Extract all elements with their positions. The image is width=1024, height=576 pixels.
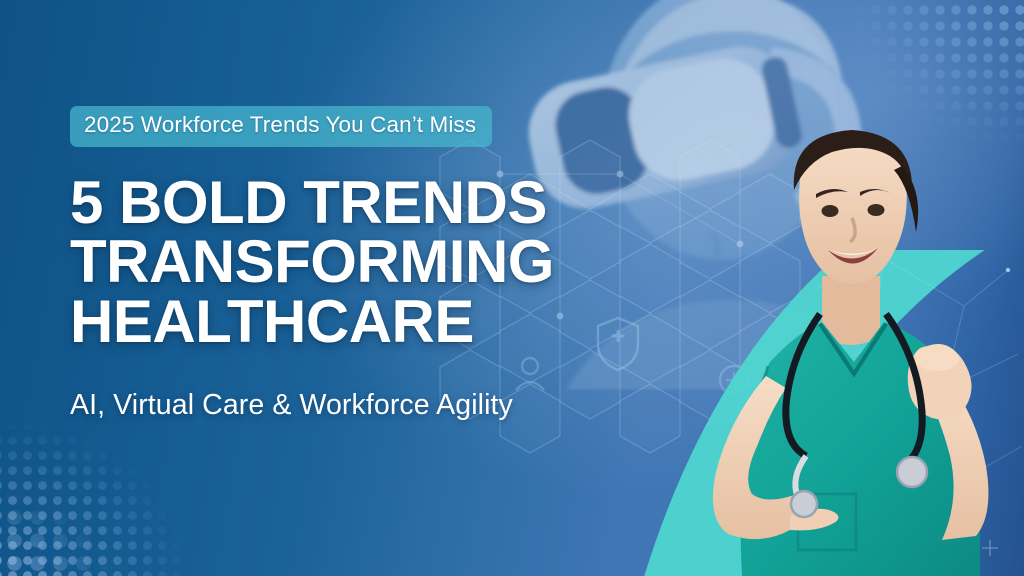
subtitle: AI, Virtual Care & Workforce Agility <box>70 389 513 422</box>
smiling-nurse-photo <box>694 126 1024 576</box>
page-title: 5 BOLD TRENDS TRANSFORMING HEALTHCARE <box>70 173 554 351</box>
headline-line-2: TRANSFORMING <box>70 232 554 291</box>
text-content: 2025 Workforce Trends You Can’t Miss 5 B… <box>70 0 630 576</box>
healthcare-trends-banner: 2025 Workforce Trends You Can’t Miss 5 B… <box>0 0 1024 576</box>
eyebrow-badge: 2025 Workforce Trends You Can’t Miss <box>70 106 492 147</box>
headline-line-1: 5 BOLD TRENDS <box>70 173 554 232</box>
headline-line-3: HEALTHCARE <box>70 292 554 351</box>
